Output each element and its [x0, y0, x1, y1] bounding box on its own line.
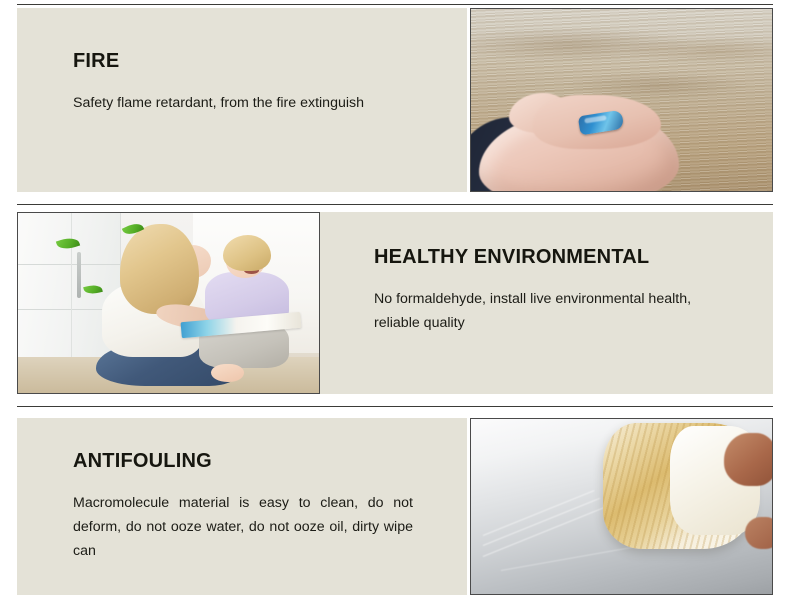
- feature-title-fire: FIRE: [73, 50, 403, 72]
- child-hair: [223, 235, 271, 271]
- feature-image-fire: [470, 8, 773, 192]
- feature-copy-block: FIRE Safety flame retardant, from the fi…: [17, 8, 467, 192]
- section-divider-top: [17, 4, 773, 5]
- child-foot: [211, 364, 244, 382]
- fingertip: [724, 433, 773, 486]
- feature-copy-inner: FIRE Safety flame retardant, from the fi…: [73, 50, 403, 115]
- feature-image-antifouling: [470, 418, 773, 595]
- feature-title-healthy-environmental: HEALTHY ENVIRONMENTAL: [374, 246, 704, 268]
- feature-title-antifouling: ANTIFOULING: [73, 450, 413, 472]
- mother-hair: [120, 224, 198, 314]
- feature-copy-block: HEALTHY ENVIRONMENTAL No formaldehyde, i…: [320, 212, 773, 394]
- feature-panel-antifouling: ANTIFOULING Macromolecule material is ea…: [0, 418, 790, 595]
- fingertip: [745, 517, 773, 549]
- cabinet-seam-upper: [18, 264, 120, 265]
- cabinet-handle: [77, 252, 81, 298]
- feature-description-healthy-environmental: No formaldehyde, install live environmen…: [374, 287, 704, 335]
- feature-image-healthy-environmental: [17, 212, 320, 394]
- cabinet-door-split: [71, 213, 72, 368]
- section-divider-middle: [17, 204, 773, 205]
- feature-description-antifouling: Macromolecule material is easy to clean,…: [73, 491, 413, 563]
- product-feature-page: FIRE Safety flame retardant, from the fi…: [0, 0, 790, 612]
- feature-copy-inner: ANTIFOULING Macromolecule material is ea…: [73, 450, 413, 563]
- feature-copy-block: ANTIFOULING Macromolecule material is ea…: [17, 418, 467, 595]
- section-divider-bottom: [17, 406, 773, 407]
- feature-copy-inner: HEALTHY ENVIRONMENTAL No formaldehyde, i…: [374, 246, 704, 335]
- feature-panel-healthy-environmental: HEALTHY ENVIRONMENTAL No formaldehyde, i…: [0, 212, 790, 394]
- feature-panel-fire: FIRE Safety flame retardant, from the fi…: [0, 8, 790, 192]
- feature-description-fire: Safety flame retardant, from the fire ex…: [73, 91, 403, 115]
